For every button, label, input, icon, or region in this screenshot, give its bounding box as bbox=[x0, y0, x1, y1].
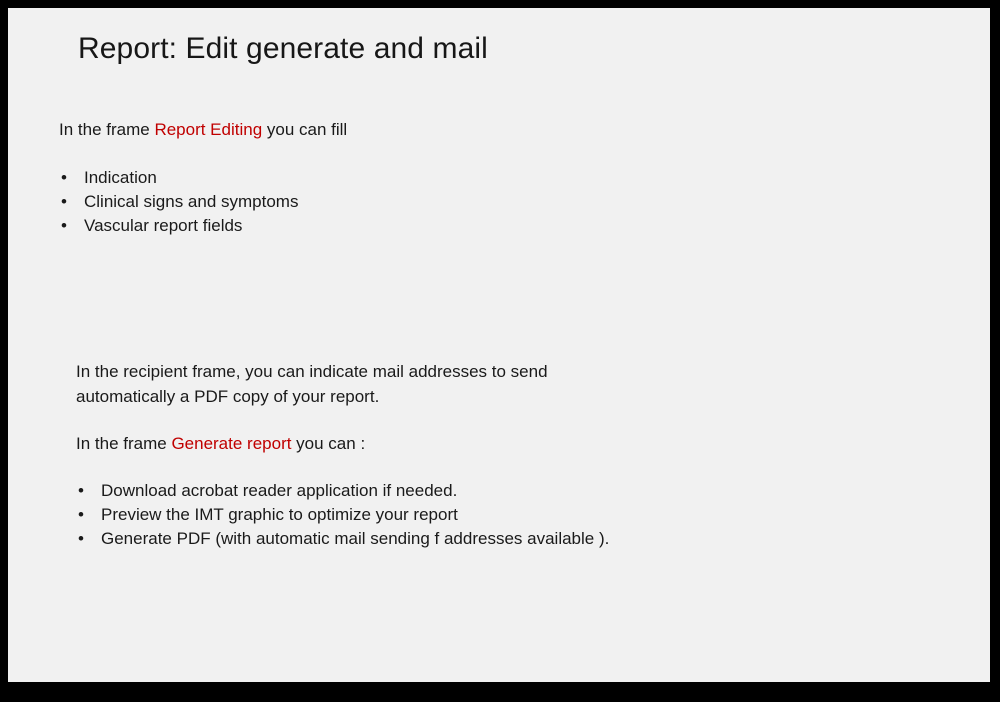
bullet-icon: • bbox=[78, 527, 84, 551]
list-item-label: Generate PDF (with automatic mail sendin… bbox=[101, 529, 609, 548]
intro-prefix: In the frame bbox=[76, 434, 171, 453]
spacer bbox=[59, 142, 919, 166]
report-editing-bullet-list: • Indication • Clinical signs and sympto… bbox=[59, 166, 919, 238]
list-item: • Generate PDF (with automatic mail send… bbox=[76, 527, 936, 551]
recipient-frame-paragraph: In the recipient frame, you can indicate… bbox=[76, 360, 936, 409]
list-item: • Clinical signs and symptoms bbox=[59, 190, 919, 214]
paragraph-line: In the recipient frame, you can indicate… bbox=[76, 360, 936, 385]
list-item: • Vascular report fields bbox=[59, 214, 919, 238]
slide-canvas: Report: Edit generate and mail In the fr… bbox=[8, 8, 990, 682]
page-title: Report: Edit generate and mail bbox=[78, 30, 488, 68]
report-editing-intro: In the frame Report Editing you can fill bbox=[59, 118, 919, 142]
list-item-label: Download acrobat reader application if n… bbox=[101, 481, 457, 500]
list-item-label: Preview the IMT graphic to optimize your… bbox=[101, 505, 458, 524]
list-item: • Indication bbox=[59, 166, 919, 190]
intro-suffix: you can : bbox=[291, 434, 365, 453]
report-editing-block: In the frame Report Editing you can fill… bbox=[59, 118, 919, 238]
list-item-label: Indication bbox=[84, 168, 157, 187]
spacer bbox=[76, 409, 936, 432]
paragraph-line: automatically a PDF copy of your report. bbox=[76, 385, 936, 410]
spacer bbox=[76, 456, 936, 479]
report-editing-highlight: Report Editing bbox=[154, 120, 262, 139]
bullet-icon: • bbox=[61, 214, 67, 238]
intro-prefix: In the frame bbox=[59, 120, 154, 139]
list-item: • Download acrobat reader application if… bbox=[76, 479, 936, 503]
generate-report-highlight: Generate report bbox=[171, 434, 291, 453]
generate-report-bullet-list: • Download acrobat reader application if… bbox=[76, 479, 936, 551]
bullet-icon: • bbox=[78, 479, 84, 503]
generate-report-intro: In the frame Generate report you can : bbox=[76, 432, 936, 456]
list-item-label: Vascular report fields bbox=[84, 216, 242, 235]
bullet-icon: • bbox=[78, 503, 84, 527]
bullet-icon: • bbox=[61, 166, 67, 190]
list-item-label: Clinical signs and symptoms bbox=[84, 192, 298, 211]
slide-frame: Report: Edit generate and mail In the fr… bbox=[0, 0, 1000, 702]
generate-report-block: In the recipient frame, you can indicate… bbox=[76, 360, 936, 551]
list-item: • Preview the IMT graphic to optimize yo… bbox=[76, 503, 936, 527]
intro-suffix: you can fill bbox=[262, 120, 347, 139]
bullet-icon: • bbox=[61, 190, 67, 214]
